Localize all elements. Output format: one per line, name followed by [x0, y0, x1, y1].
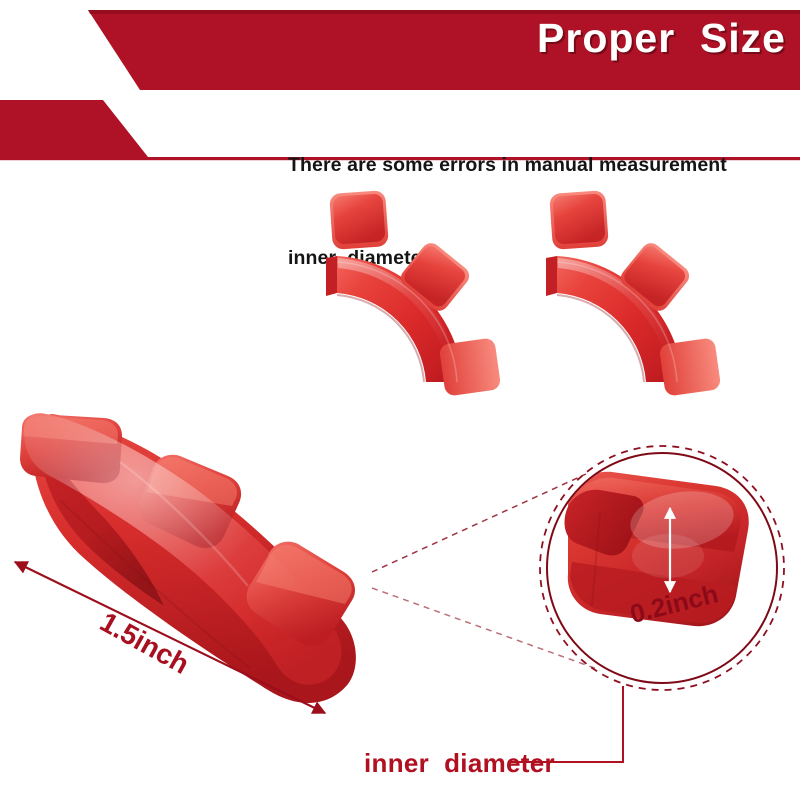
saddle-pad-right	[247, 542, 355, 646]
banner-top-lip	[88, 10, 800, 14]
infographic-canvas: Proper Size There are some errors in man…	[0, 0, 800, 800]
length-measurement-label: 1.5inch	[94, 606, 194, 681]
zoom-pad-top-face	[570, 478, 741, 552]
magnifier-rim-solid	[547, 453, 777, 683]
zoom-ridge-1	[592, 512, 600, 606]
saddle-inner-hollow	[40, 440, 164, 606]
zoom-gloss	[627, 485, 738, 555]
arc-pad-3	[439, 337, 502, 396]
header-subtitle: There are some errors in manual measurem…	[288, 88, 788, 336]
zoom-inner-notch	[565, 490, 644, 556]
magnifier-cone	[372, 474, 600, 670]
cone-line-lower	[372, 588, 600, 670]
magnifier-disc	[547, 453, 777, 683]
subtitle-line-1: There are some errors in manual measurem…	[288, 150, 788, 181]
saddle-top-face	[24, 413, 341, 684]
saddle-pad-center	[139, 455, 241, 548]
saddle-gloss	[24, 413, 341, 684]
saddle-front-face	[30, 414, 356, 703]
zoom-gloss-2	[632, 534, 704, 578]
cone-line-upper	[372, 474, 586, 572]
saddle-pad-left	[20, 414, 122, 483]
inner-diameter-label: inner diameter	[364, 748, 555, 779]
page-title: Proper Size	[537, 18, 786, 59]
inner-diameter-magnifier	[540, 446, 784, 690]
banner-left-wedge	[0, 100, 148, 157]
length-dimension-arrow	[15, 562, 325, 713]
saddle-contour-1	[120, 462, 248, 586]
arc-pad-3	[659, 337, 722, 396]
subtitle-line-2: inner diameter	[288, 243, 788, 274]
magnifier-rim-dashed	[540, 446, 784, 690]
thickness-measurement-label: 0.2inch	[627, 578, 721, 630]
